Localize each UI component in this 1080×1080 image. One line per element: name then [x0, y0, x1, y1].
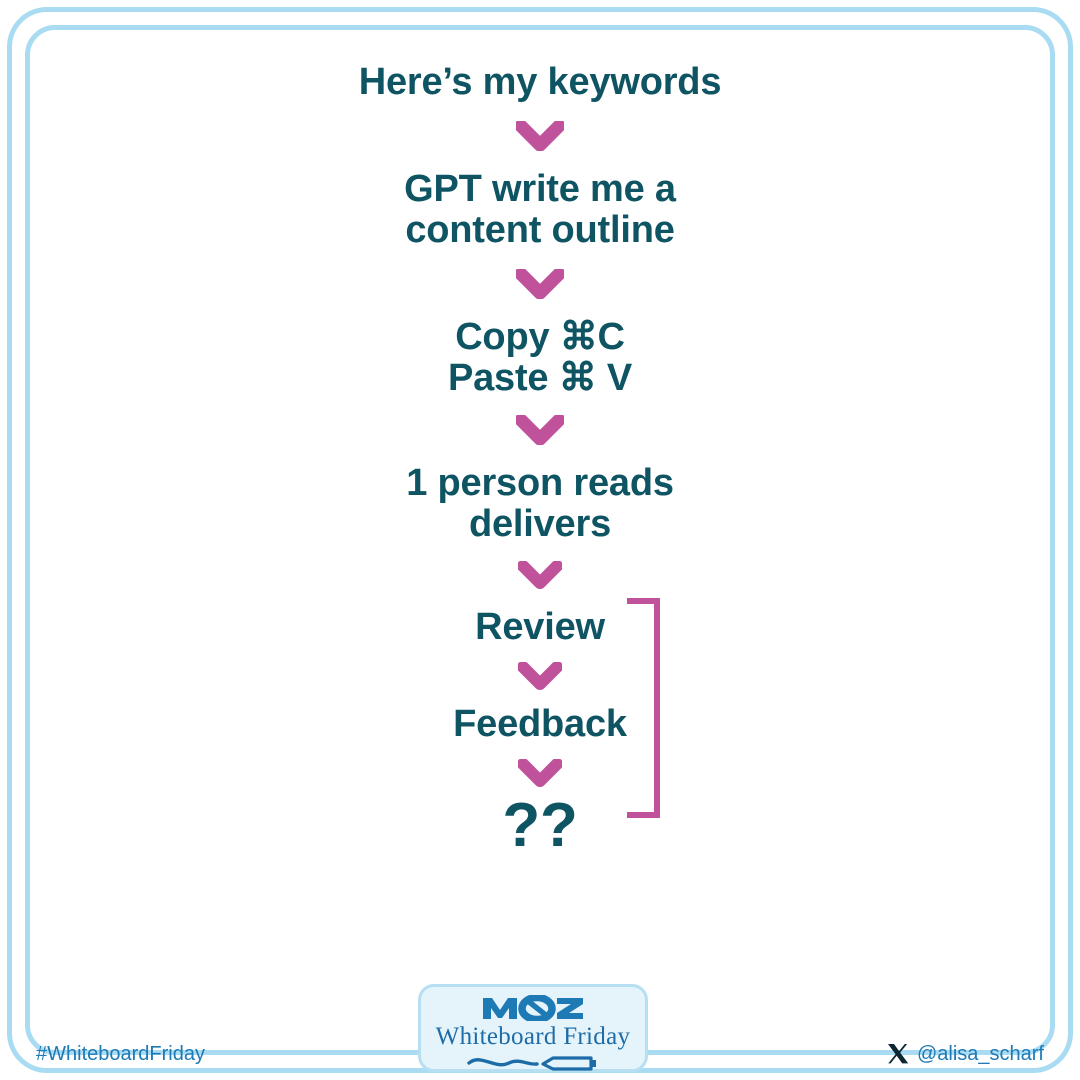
review-loop-group: Review Feedback ?? [0, 589, 1080, 860]
flow-step-question-marks: ?? [502, 793, 577, 860]
marker-squiggle-icon [465, 1054, 601, 1072]
flow-step-copy-paste: Copy ⌘C Paste ⌘ V [448, 317, 632, 399]
right-bracket [627, 597, 667, 819]
moz-whiteboard-friday-badge: Whiteboard Friday [418, 984, 648, 1072]
chevron-down-icon [518, 662, 562, 690]
badge-title: Whiteboard Friday [436, 1023, 631, 1051]
chevron-down-icon [516, 415, 564, 445]
flow-step-review: Review [475, 607, 605, 648]
chevron-down-icon [518, 561, 562, 589]
x-logo-icon [886, 1042, 910, 1066]
chevron-down-icon [516, 269, 564, 299]
flow-step-reads-delivers: 1 person reads delivers [406, 463, 674, 545]
chevron-down-icon [516, 121, 564, 151]
flow-step-outline: GPT write me a content outline [404, 169, 676, 251]
moz-logo-icon [481, 995, 585, 1021]
handle-label: @alisa_scharf [917, 1043, 1044, 1066]
flow-step-keywords: Here’s my keywords [359, 62, 722, 103]
social-handle: @alisa_scharf [886, 1042, 1044, 1066]
flow-step-feedback: Feedback [453, 704, 627, 745]
chevron-down-icon [518, 759, 562, 787]
hashtag-label: #WhiteboardFriday [36, 1043, 205, 1066]
process-flow: Here’s my keywords GPT write me a conten… [0, 0, 1080, 860]
